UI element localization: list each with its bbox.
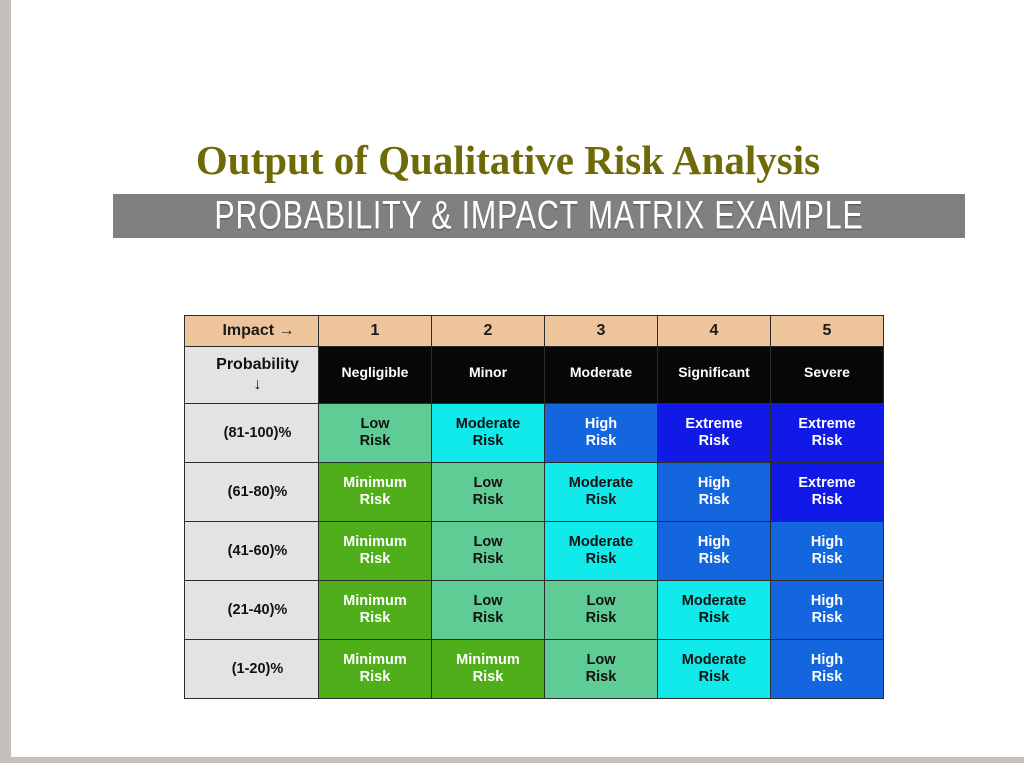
risk-level-label: High xyxy=(545,416,657,433)
probability-label-text: Probability xyxy=(216,356,299,373)
slide-frame-bottom-fill xyxy=(0,763,1024,776)
impact-number-4: 4 xyxy=(658,316,771,347)
risk-cell-high[interactable]: HighRisk xyxy=(658,463,771,522)
matrix-row: (1-20)%MinimumRiskMinimumRiskLowRiskMode… xyxy=(185,640,884,699)
matrix-row: (41-60)%MinimumRiskLowRiskModerateRiskHi… xyxy=(185,522,884,581)
risk-word-label: Risk xyxy=(432,551,544,568)
risk-cell-moderate[interactable]: ModerateRisk xyxy=(658,581,771,640)
risk-word-label: Risk xyxy=(545,433,657,450)
risk-cell-moderate[interactable]: ModerateRisk xyxy=(545,522,658,581)
risk-cell-minimum[interactable]: MinimumRisk xyxy=(319,463,432,522)
subtitle-banner: PROBABILITY & IMPACT MATRIX EXAMPLE xyxy=(113,194,965,238)
risk-word-label: Risk xyxy=(658,610,770,627)
matrix-row: (21-40)%MinimumRiskLowRiskLowRiskModerat… xyxy=(185,581,884,640)
risk-cell-extreme[interactable]: ExtremeRisk xyxy=(658,404,771,463)
probability-axis-label: Probability ↓ xyxy=(185,347,319,404)
impact-label-text: Impact xyxy=(222,322,274,339)
risk-word-label: Risk xyxy=(432,492,544,509)
matrix-body: Impact → 1 2 3 4 5 Probability ↓ Negligi… xyxy=(185,316,884,699)
risk-level-label: Moderate xyxy=(545,534,657,551)
risk-word-label: Risk xyxy=(771,433,883,450)
probability-range-cell: (1-20)% xyxy=(185,640,319,699)
risk-word-label: Risk xyxy=(658,551,770,568)
risk-level-label: Moderate xyxy=(432,416,544,433)
risk-cell-moderate[interactable]: ModerateRisk xyxy=(545,463,658,522)
severity-header-significant: Significant xyxy=(658,347,771,404)
arrow-right-icon: → xyxy=(279,322,295,339)
risk-cell-minimum[interactable]: MinimumRisk xyxy=(319,581,432,640)
severity-header-moderate: Moderate xyxy=(545,347,658,404)
risk-level-label: Minimum xyxy=(432,652,544,669)
impact-number-5: 5 xyxy=(771,316,884,347)
risk-word-label: Risk xyxy=(658,669,770,686)
impact-number-3: 3 xyxy=(545,316,658,347)
probability-range-cell: (61-80)% xyxy=(185,463,319,522)
risk-level-label: Low xyxy=(432,593,544,610)
risk-cell-low[interactable]: LowRisk xyxy=(545,581,658,640)
risk-level-label: Minimum xyxy=(319,534,431,551)
risk-level-label: High xyxy=(658,475,770,492)
risk-level-label: Minimum xyxy=(319,652,431,669)
risk-cell-low[interactable]: LowRisk xyxy=(545,640,658,699)
risk-word-label: Risk xyxy=(432,610,544,627)
risk-cell-low[interactable]: LowRisk xyxy=(432,522,545,581)
risk-word-label: Risk xyxy=(319,433,431,450)
risk-word-label: Risk xyxy=(545,669,657,686)
risk-level-label: Minimum xyxy=(319,475,431,492)
matrix-row: (81-100)%LowRiskModerateRiskHighRiskExtr… xyxy=(185,404,884,463)
risk-level-label: Extreme xyxy=(658,416,770,433)
matrix-severity-header-row: Probability ↓ Negligible Minor Moderate … xyxy=(185,347,884,404)
risk-level-label: Extreme xyxy=(771,416,883,433)
risk-cell-high[interactable]: HighRisk xyxy=(658,522,771,581)
severity-header-negligible: Negligible xyxy=(319,347,432,404)
slide-frame-left-border xyxy=(0,0,11,776)
impact-number-1: 1 xyxy=(319,316,432,347)
risk-level-label: Low xyxy=(545,593,657,610)
probability-range-cell: (41-60)% xyxy=(185,522,319,581)
risk-level-label: Low xyxy=(432,475,544,492)
risk-word-label: Risk xyxy=(319,669,431,686)
probability-range-cell: (81-100)% xyxy=(185,404,319,463)
page-subtitle: PROBABILITY & IMPACT MATRIX EXAMPLE xyxy=(198,193,880,240)
risk-word-label: Risk xyxy=(432,669,544,686)
risk-level-label: Low xyxy=(432,534,544,551)
slide-canvas: Output of Qualitative Risk Analysis PROB… xyxy=(0,0,1024,776)
risk-cell-minimum[interactable]: MinimumRisk xyxy=(432,640,545,699)
risk-word-label: Risk xyxy=(319,551,431,568)
risk-cell-high[interactable]: HighRisk xyxy=(771,581,884,640)
page-title: Output of Qualitative Risk Analysis xyxy=(108,136,908,184)
risk-cell-extreme[interactable]: ExtremeRisk xyxy=(771,404,884,463)
risk-level-label: Moderate xyxy=(545,475,657,492)
probability-impact-matrix: Impact → 1 2 3 4 5 Probability ↓ Negligi… xyxy=(184,315,884,699)
risk-word-label: Risk xyxy=(319,492,431,509)
matrix-row: (61-80)%MinimumRiskLowRiskModerateRiskHi… xyxy=(185,463,884,522)
risk-word-label: Risk xyxy=(545,610,657,627)
arrow-down-icon: ↓ xyxy=(254,376,262,393)
matrix-impact-header-row: Impact → 1 2 3 4 5 xyxy=(185,316,884,347)
risk-word-label: Risk xyxy=(432,433,544,450)
probability-range-cell: (21-40)% xyxy=(185,581,319,640)
severity-header-minor: Minor xyxy=(432,347,545,404)
risk-cell-minimum[interactable]: MinimumRisk xyxy=(319,522,432,581)
risk-cell-high[interactable]: HighRisk xyxy=(771,640,884,699)
risk-level-label: Low xyxy=(319,416,431,433)
risk-cell-low[interactable]: LowRisk xyxy=(432,463,545,522)
impact-number-2: 2 xyxy=(432,316,545,347)
risk-cell-low[interactable]: LowRisk xyxy=(319,404,432,463)
risk-word-label: Risk xyxy=(545,551,657,568)
risk-cell-moderate[interactable]: ModerateRisk xyxy=(432,404,545,463)
risk-word-label: Risk xyxy=(658,492,770,509)
risk-word-label: Risk xyxy=(771,610,883,627)
risk-word-label: Risk xyxy=(771,669,883,686)
risk-level-label: High xyxy=(658,534,770,551)
risk-level-label: High xyxy=(771,534,883,551)
risk-level-label: High xyxy=(771,593,883,610)
severity-header-severe: Severe xyxy=(771,347,884,404)
risk-cell-extreme[interactable]: ExtremeRisk xyxy=(771,463,884,522)
risk-word-label: Risk xyxy=(319,610,431,627)
risk-word-label: Risk xyxy=(771,492,883,509)
impact-axis-label: Impact → xyxy=(185,316,319,347)
risk-level-label: High xyxy=(771,652,883,669)
risk-level-label: Low xyxy=(545,652,657,669)
risk-level-label: Moderate xyxy=(658,593,770,610)
risk-cell-high[interactable]: HighRisk xyxy=(545,404,658,463)
risk-cell-moderate[interactable]: ModerateRisk xyxy=(658,640,771,699)
risk-word-label: Risk xyxy=(771,551,883,568)
risk-level-label: Minimum xyxy=(319,593,431,610)
risk-level-label: Extreme xyxy=(771,475,883,492)
risk-level-label: Moderate xyxy=(658,652,770,669)
risk-cell-minimum[interactable]: MinimumRisk xyxy=(319,640,432,699)
risk-word-label: Risk xyxy=(545,492,657,509)
risk-cell-low[interactable]: LowRisk xyxy=(432,581,545,640)
risk-word-label: Risk xyxy=(658,433,770,450)
risk-cell-high[interactable]: HighRisk xyxy=(771,522,884,581)
